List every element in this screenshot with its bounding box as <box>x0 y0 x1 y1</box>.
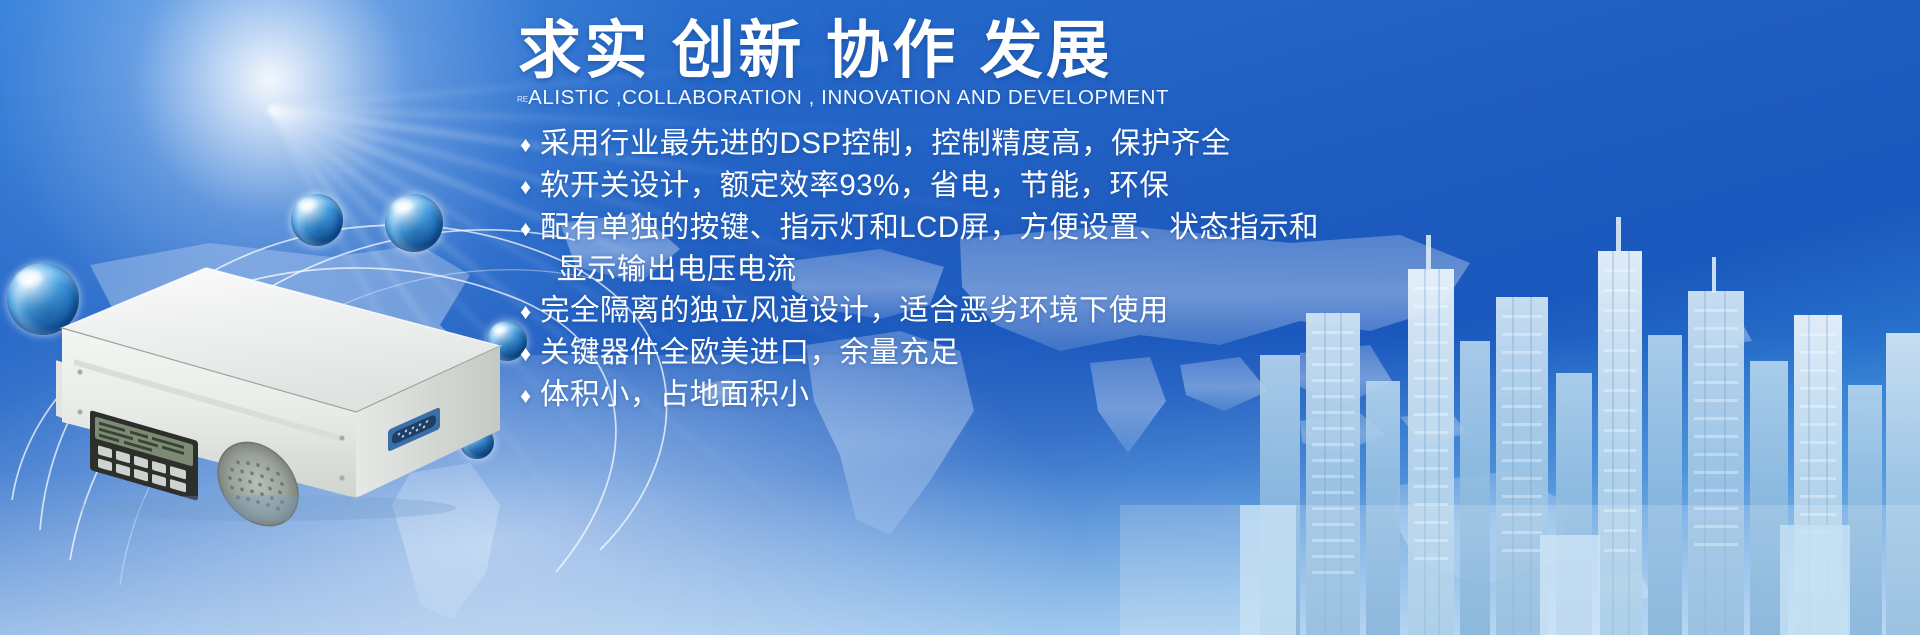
list-item: ♦软开关设计，额定效率93%，省电，节能，环保 <box>520 165 1620 207</box>
globe-icon <box>385 194 443 252</box>
list-item-label: 完全隔离的独立风道设计，适合恶劣环境下使用 <box>540 294 1169 327</box>
list-item: ♦体积小，占地面积小 <box>520 374 1620 416</box>
list-item: ♦配有单独的按键、指示灯和LCD屏，方便设置、状态指示和 <box>520 207 1620 249</box>
feature-list: ♦采用行业最先进的DSP控制，控制精度高，保护齐全 ♦软开关设计，额定效率93%… <box>500 123 1620 416</box>
list-item: ♦关键器件全欧美进口，余量充足 <box>520 332 1620 374</box>
list-item: ♦采用行业最先进的DSP控制，控制精度高，保护齐全 <box>520 123 1620 165</box>
list-item-label: 关键器件全欧美进口，余量充足 <box>540 336 959 369</box>
list-item-label: 配有单独的按键、指示灯和LCD屏，方便设置、状态指示和 <box>540 211 1319 244</box>
list-item-label: 软开关设计，额定效率93%，省电，节能，环保 <box>540 169 1169 202</box>
banner-text-block: 求实 创新 协作 发展 REALISTIC ,COLLABORATION , I… <box>500 18 1620 416</box>
list-item-label: 采用行业最先进的DSP控制，控制精度高，保护齐全 <box>540 127 1231 160</box>
subtitle-main: ALISTIC ,COLLABORATION , INNOVATION AND … <box>528 86 1169 109</box>
page-title: 求实 创新 协作 发展 <box>518 18 1620 85</box>
diamond-bullet-icon: ♦ <box>520 291 540 332</box>
diamond-bullet-icon: ♦ <box>520 375 540 416</box>
list-item-label: 体积小，占地面积小 <box>540 378 809 411</box>
subtitle-prefix: RE <box>517 95 528 104</box>
diamond-bullet-icon: ♦ <box>520 208 540 249</box>
diamond-bullet-icon: ♦ <box>520 333 540 374</box>
list-item: ♦完全隔离的独立风道设计，适合恶劣环境下使用 <box>520 290 1620 332</box>
diamond-bullet-icon: ♦ <box>520 166 540 207</box>
diamond-bullet-icon: ♦ <box>520 124 540 165</box>
list-item-continuation: 显示输出电压电流 <box>520 249 1620 290</box>
power-supply-device-image <box>56 262 506 527</box>
globe-icon <box>291 194 343 246</box>
list-item-label: 显示输出电压电流 <box>557 253 797 286</box>
product-banner: 求实 创新 协作 发展 REALISTIC ,COLLABORATION , I… <box>0 0 1920 635</box>
subtitle-english: REALISTIC ,COLLABORATION , INNOVATION AN… <box>517 87 1620 110</box>
